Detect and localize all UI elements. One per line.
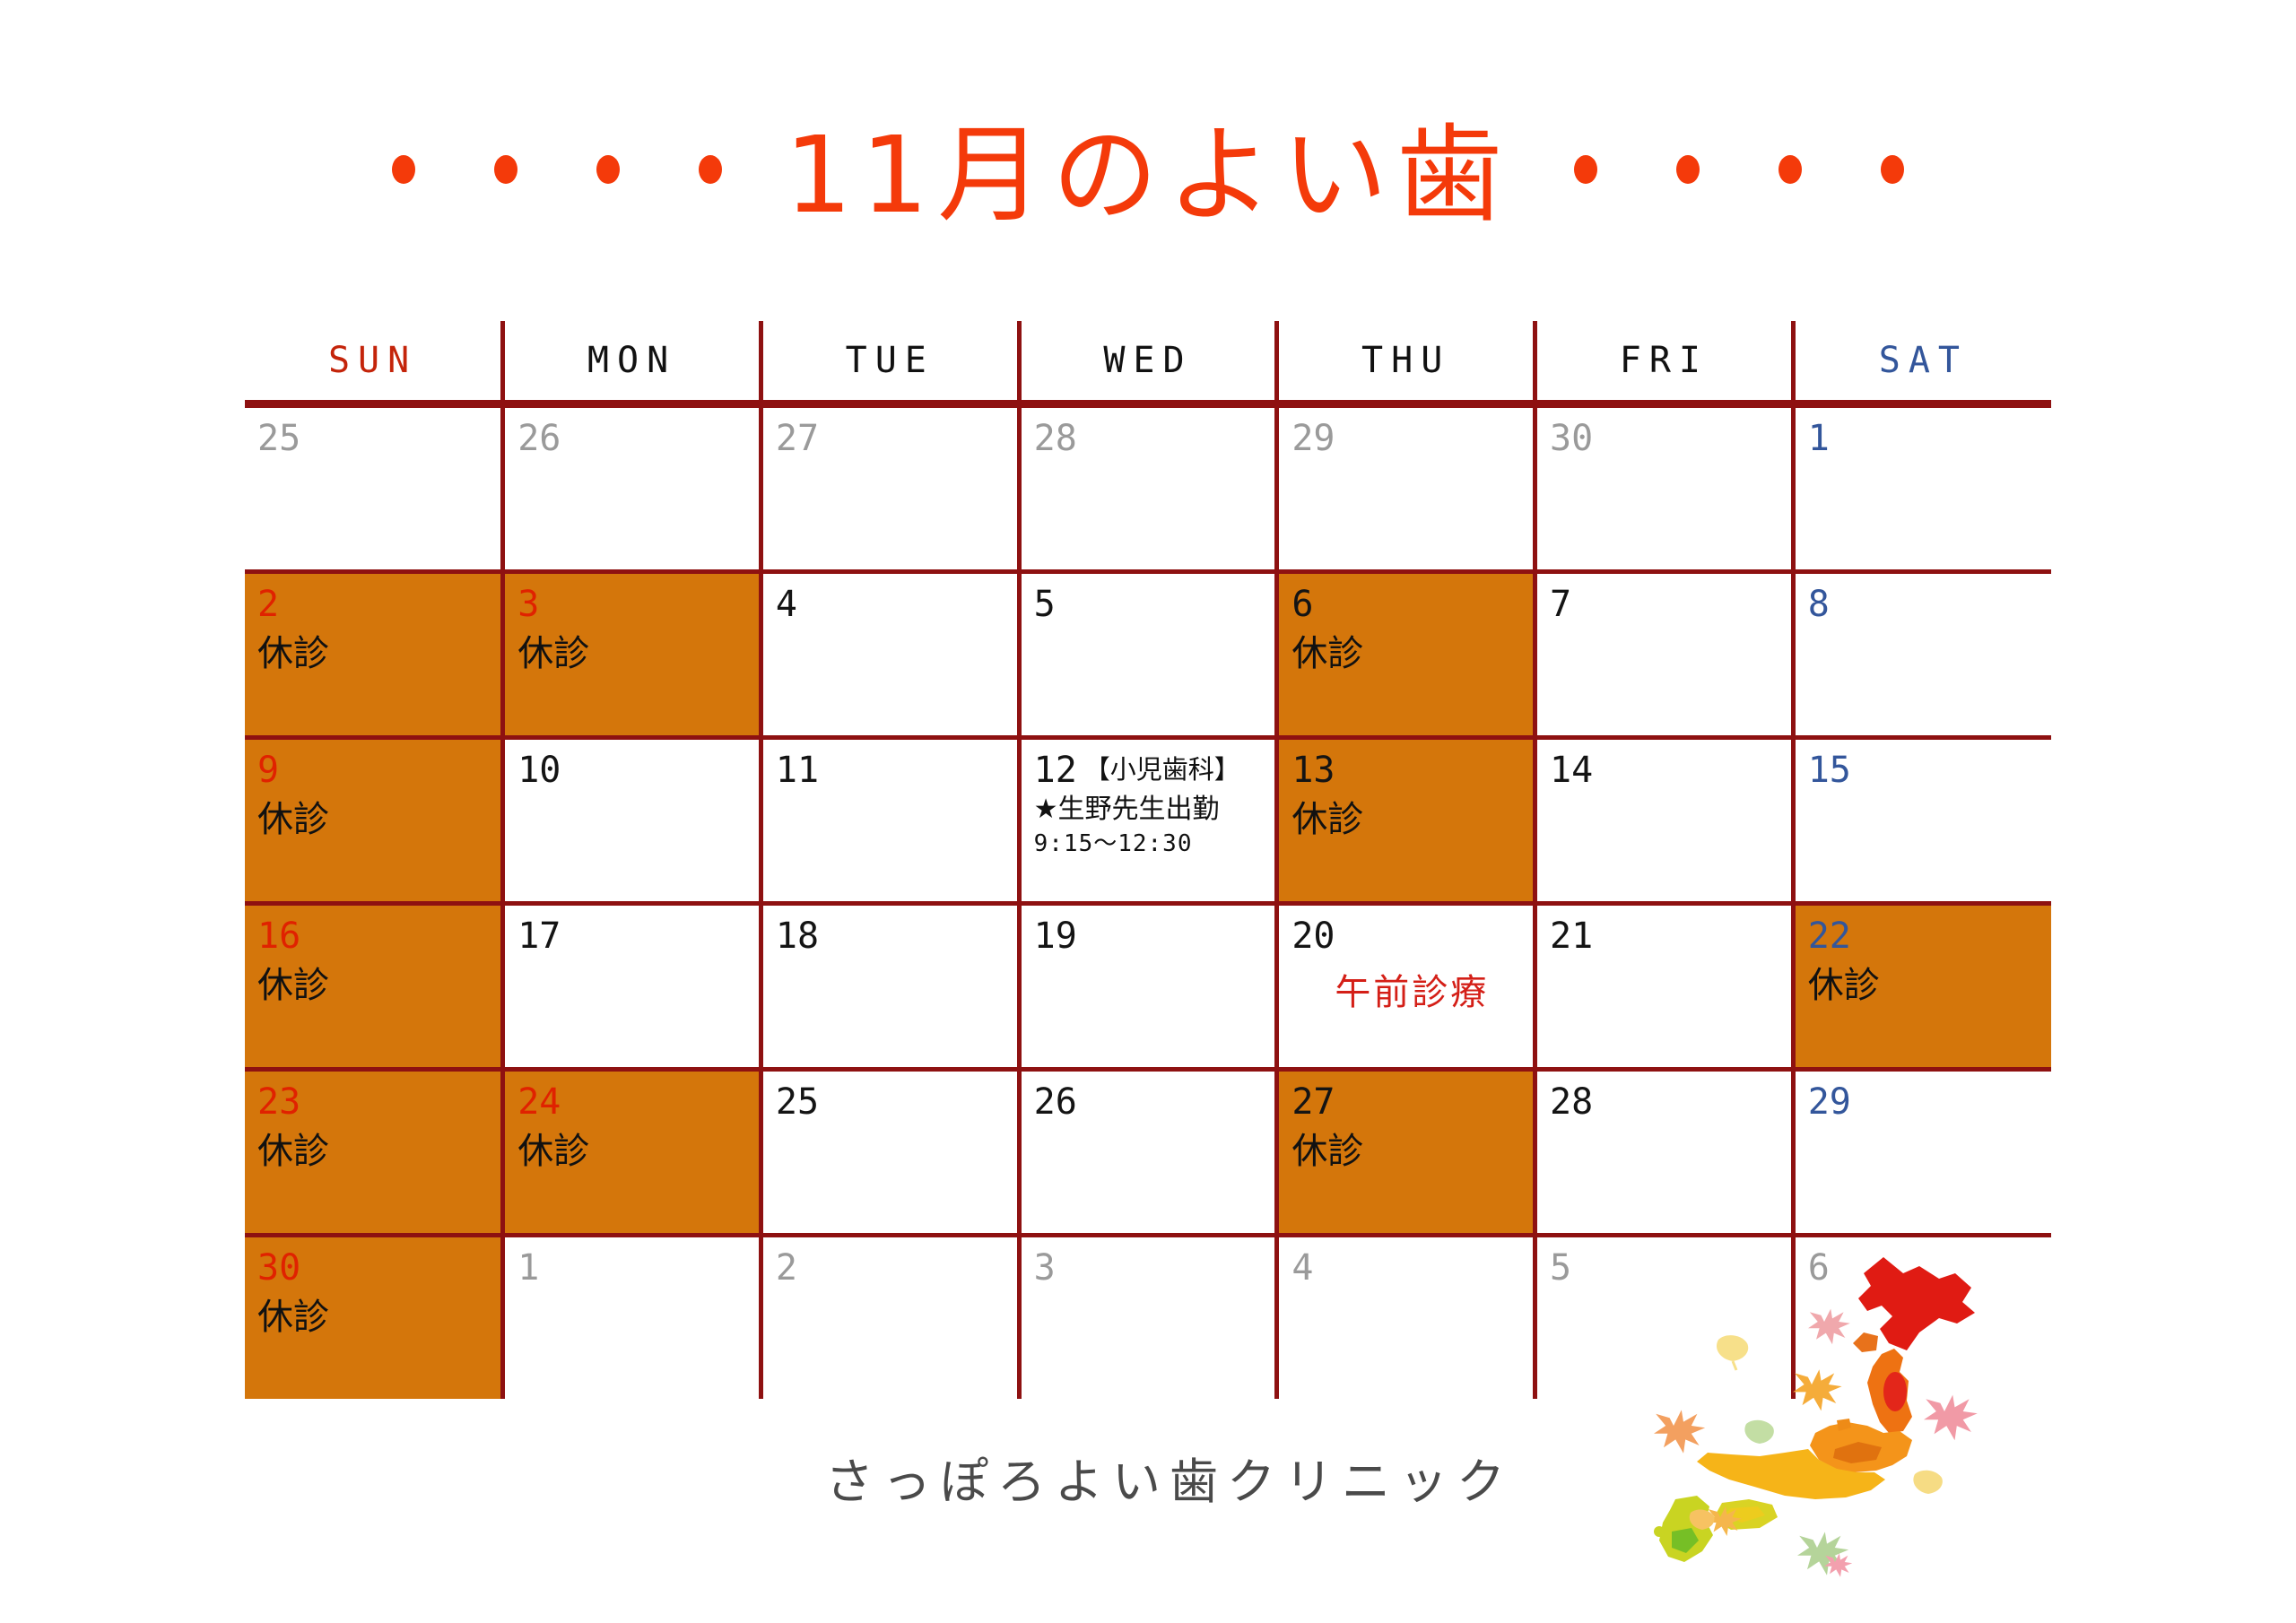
day-closed-label: 休診 — [257, 967, 500, 1005]
day-number: 17 — [517, 918, 561, 954]
day-number: 15 — [1808, 752, 1851, 788]
title-dots-left — [352, 161, 761, 189]
calendar-day-cell-content: 2 — [763, 1237, 1017, 1399]
day-number: 9 — [257, 752, 279, 788]
day-closed-label: 休診 — [517, 635, 759, 673]
calendar-day-cell[interactable]: 27 — [761, 404, 1019, 572]
calendar-header-row: SUN MON TUE WED THU FRI SAT — [245, 321, 2051, 404]
calendar-day-cell-content: 17 — [505, 906, 759, 1067]
day-number: 30 — [257, 1250, 300, 1286]
calendar-day-cell[interactable]: 1 — [503, 1236, 761, 1400]
day-number: 29 — [1808, 1084, 1851, 1120]
calendar-week-row: 9休診101112【小児歯科】★生野先生出勤9:15〜12:3013休診1415 — [245, 738, 2051, 904]
day-number: 10 — [517, 752, 561, 788]
calendar-day-cell-content: 30休診 — [245, 1237, 500, 1399]
day-sub-note-time: 9:15〜12:30 — [1034, 830, 1275, 859]
clinic-name: さっぽろよい歯クリニック — [825, 1442, 1514, 1513]
day-number: 27 — [776, 421, 819, 456]
day-inline-note: 【小児歯科】 — [1084, 754, 1240, 785]
day-number: 28 — [1034, 421, 1077, 456]
calendar-day-cell-content: 23休診 — [245, 1072, 500, 1233]
day-number: 18 — [776, 918, 819, 954]
calendar-day-cell-content: 19 — [1022, 906, 1275, 1067]
calendar-day-cell-content: 1 — [1796, 408, 2051, 569]
calendar-day-cell-content: 26 — [1022, 1072, 1275, 1233]
day-number: 29 — [1291, 421, 1335, 456]
calendar-day-cell-content: 26 — [505, 408, 759, 569]
weekday-header-mon: MON — [503, 321, 761, 404]
calendar-day-cell-content: 13休診 — [1279, 740, 1533, 901]
day-closed-label: 休診 — [1291, 1133, 1533, 1171]
day-number: 13 — [1291, 752, 1335, 788]
day-number: 6 — [1291, 586, 1313, 622]
calendar-day-cell[interactable]: 14 — [1535, 738, 1794, 904]
day-number: 12 — [1034, 752, 1077, 788]
weekday-header-thu: THU — [1277, 321, 1535, 404]
title-dot-icon — [1676, 155, 1700, 184]
calendar-day-cell[interactable]: 19 — [1019, 904, 1277, 1070]
title-dots-right — [1535, 161, 1944, 189]
day-number: 21 — [1550, 918, 1593, 954]
day-number: 16 — [257, 918, 300, 954]
maple-leaf-icon — [1793, 1369, 1842, 1410]
day-number: 1 — [1808, 421, 1830, 456]
calendar-day-cell[interactable]: 8 — [1793, 572, 2051, 738]
weekday-header-sun: SUN — [245, 321, 503, 404]
day-number: 14 — [1550, 752, 1593, 788]
calendar-day-cell[interactable]: 27休診 — [1277, 1070, 1535, 1236]
calendar-day-cell[interactable]: 13休診 — [1277, 738, 1535, 904]
day-number: 28 — [1550, 1084, 1593, 1120]
day-closed-label: 休診 — [257, 801, 500, 839]
calendar-title-bar: 11月のよい歯 — [0, 108, 2296, 242]
day-number: 23 — [257, 1084, 300, 1120]
day-number: 25 — [776, 1084, 819, 1120]
day-number: 22 — [1808, 918, 1851, 954]
calendar-day-cell-content: 2休診 — [245, 574, 500, 735]
calendar-day-cell-content: 28 — [1537, 1072, 1791, 1233]
day-number: 1 — [517, 1250, 539, 1286]
calendar-day-cell[interactable]: 20午前診療 — [1277, 904, 1535, 1070]
day-sub-note-primary: ★生野先生出勤 — [1034, 794, 1275, 827]
calendar-day-cell-content: 10 — [505, 740, 759, 901]
maple-leaf-icon — [1924, 1395, 1978, 1441]
calendar-day-cell[interactable]: 2 — [761, 1236, 1019, 1400]
calendar-day-cell-content: 3休診 — [505, 574, 759, 735]
calendar-day-cell-content: 24休診 — [505, 1072, 759, 1233]
day-number: 5 — [1034, 586, 1056, 622]
calendar-day-cell[interactable]: 28 — [1019, 404, 1277, 572]
calendar-day-cell[interactable]: 29 — [1277, 404, 1535, 572]
calendar-day-cell[interactable]: 3休診 — [503, 572, 761, 738]
calendar-day-cell[interactable]: 12【小児歯科】★生野先生出勤9:15〜12:30 — [1019, 738, 1277, 904]
title-dot-icon — [596, 155, 620, 184]
title-dot-icon — [699, 155, 722, 184]
calendar-day-cell[interactable]: 15 — [1793, 738, 2051, 904]
weekday-header-sat: SAT — [1793, 321, 2051, 404]
maple-leaf-icon — [1824, 1553, 1852, 1576]
calendar-week-row: 23休診24休診252627休診2829 — [245, 1070, 2051, 1236]
maple-leaf-icon — [1654, 1410, 1705, 1453]
calendar-day-cell-content: 6休診 — [1279, 574, 1533, 735]
day-closed-label: 休診 — [257, 635, 500, 673]
calendar-day-cell[interactable]: 30 — [1535, 404, 1794, 572]
calendar-day-cell-content: 8 — [1796, 574, 2051, 735]
day-number: 2 — [776, 1250, 797, 1286]
calendar-table: SUN MON TUE WED THU FRI SAT 252627282930… — [245, 321, 2051, 1399]
calendar-day-cell[interactable]: 29 — [1793, 1070, 2051, 1236]
day-number: 7 — [1550, 586, 1571, 622]
calendar-day-cell[interactable]: 16休診 — [245, 904, 503, 1070]
title-dot-icon — [1779, 155, 1802, 184]
calendar-day-cell[interactable]: 11 — [761, 738, 1019, 904]
calendar-day-cell[interactable]: 26 — [503, 404, 761, 572]
ginkgo-leaf-icon — [1744, 1420, 1773, 1444]
calendar-day-cell[interactable]: 25 — [761, 1070, 1019, 1236]
calendar-day-cell[interactable]: 28 — [1535, 1070, 1794, 1236]
day-number: 19 — [1034, 918, 1077, 954]
day-number: 27 — [1291, 1084, 1335, 1120]
calendar-day-cell[interactable]: 5 — [1019, 572, 1277, 738]
day-number: 3 — [1034, 1250, 1056, 1286]
calendar-day-cell-content: 1 — [505, 1237, 759, 1399]
day-number: 30 — [1550, 421, 1593, 456]
day-closed-label: 休診 — [517, 1133, 759, 1171]
calendar-day-cell-content: 5 — [1022, 574, 1275, 735]
calendar-day-cell-content: 16休診 — [245, 906, 500, 1067]
title-dot-icon — [1881, 155, 1904, 184]
day-number: 8 — [1808, 586, 1830, 622]
day-number: 25 — [257, 421, 300, 456]
calendar-day-cell-content: 12【小児歯科】★生野先生出勤9:15〜12:30 — [1022, 740, 1275, 901]
calendar-day-cell-content: 22休診 — [1796, 906, 2051, 1067]
calendar-day-cell[interactable]: 18 — [761, 904, 1019, 1070]
tohoku-accent — [1883, 1372, 1907, 1411]
calendar-day-cell[interactable]: 25 — [245, 404, 503, 572]
calendar-day-cell-content: 25 — [763, 1072, 1017, 1233]
calendar-day-cell[interactable]: 6休診 — [1277, 572, 1535, 738]
calendar-day-cell-content: 25 — [245, 408, 500, 569]
ginkgo-leaf-icon — [1717, 1335, 1748, 1370]
calendar-day-cell-content: 18 — [763, 906, 1017, 1067]
calendar-day-cell-content: 11 — [763, 740, 1017, 901]
japan-map-autumn-illustration — [1623, 1246, 1982, 1605]
day-number: 2 — [257, 586, 279, 622]
day-number: 4 — [1291, 1250, 1313, 1286]
calendar-week-row: 2526272829301 — [245, 404, 2051, 572]
calendar-day-cell-content: 4 — [1279, 1237, 1533, 1399]
calendar-day-cell[interactable]: 22休診 — [1793, 904, 2051, 1070]
maple-leaf-icon — [1808, 1309, 1850, 1345]
calendar-day-cell-content: 21 — [1537, 906, 1791, 1067]
calendar-day-cell[interactable]: 9休診 — [245, 738, 503, 904]
day-number: 26 — [1034, 1084, 1077, 1120]
weekday-header-wed: WED — [1019, 321, 1277, 404]
day-number: 4 — [776, 586, 797, 622]
day-number: 20 — [1291, 918, 1335, 954]
title-dot-icon — [1574, 155, 1597, 184]
day-number: 11 — [776, 752, 819, 788]
calendar-day-cell-content: 20午前診療 — [1279, 906, 1533, 1067]
hokkaido-tail-shape — [1853, 1332, 1878, 1352]
day-note: 午前診療 — [1291, 974, 1533, 1012]
day-closed-label: 休診 — [257, 1298, 500, 1337]
calendar-day-cell-content: 14 — [1537, 740, 1791, 901]
day-number: 5 — [1550, 1250, 1571, 1286]
calendar-day-cell[interactable]: 17 — [503, 904, 761, 1070]
day-number: 24 — [517, 1084, 561, 1120]
calendar-day-cell-content: 9休診 — [245, 740, 500, 901]
calendar-day-cell[interactable]: 1 — [1793, 404, 2051, 572]
calendar-day-cell[interactable]: 21 — [1535, 904, 1794, 1070]
calendar-day-cell-content: 28 — [1022, 408, 1275, 569]
calendar-day-cell-content: 15 — [1796, 740, 2051, 901]
calendar-day-cell-content: 27 — [763, 408, 1017, 569]
calendar-day-cell[interactable]: 24休診 — [503, 1070, 761, 1236]
calendar: SUN MON TUE WED THU FRI SAT 252627282930… — [245, 321, 2051, 1399]
calendar-day-cell[interactable]: 26 — [1019, 1070, 1277, 1236]
page-title: 11月のよい歯 — [761, 122, 1535, 228]
day-closed-label: 休診 — [1808, 967, 2051, 1005]
title-dot-icon — [494, 155, 517, 184]
calendar-day-cell[interactable]: 30休診 — [245, 1236, 503, 1400]
calendar-day-cell[interactable]: 23休診 — [245, 1070, 503, 1236]
weekday-header-fri: FRI — [1535, 321, 1794, 404]
kyushu-island-dot — [1654, 1526, 1665, 1537]
calendar-day-cell[interactable]: 7 — [1535, 572, 1794, 738]
calendar-day-cell-content: 29 — [1279, 408, 1533, 569]
calendar-day-cell[interactable]: 3 — [1019, 1236, 1277, 1400]
calendar-day-cell[interactable]: 4 — [1277, 1236, 1535, 1400]
calendar-day-cell-content: 27休診 — [1279, 1072, 1533, 1233]
calendar-day-cell-content: 3 — [1022, 1237, 1275, 1399]
calendar-week-row: 16休診17181920午前診療2122休診 — [245, 904, 2051, 1070]
title-dot-icon — [392, 155, 415, 184]
calendar-day-cell-content: 29 — [1796, 1072, 2051, 1233]
day-number: 26 — [517, 421, 561, 456]
calendar-day-cell[interactable]: 10 — [503, 738, 761, 904]
day-closed-label: 休診 — [1291, 635, 1533, 673]
calendar-day-cell[interactable]: 2休診 — [245, 572, 503, 738]
calendar-day-cell-content: 7 — [1537, 574, 1791, 735]
day-number: 3 — [517, 586, 539, 622]
calendar-day-cell-content: 30 — [1537, 408, 1791, 569]
ginkgo-leaf-icon — [1913, 1471, 1942, 1494]
calendar-day-cell-content: 4 — [763, 574, 1017, 735]
day-closed-label: 休診 — [257, 1133, 500, 1171]
weekday-header-tue: TUE — [761, 321, 1019, 404]
day-closed-label: 休診 — [1291, 801, 1533, 839]
calendar-day-cell[interactable]: 4 — [761, 572, 1019, 738]
calendar-week-row: 2休診3休診456休診78 — [245, 572, 2051, 738]
